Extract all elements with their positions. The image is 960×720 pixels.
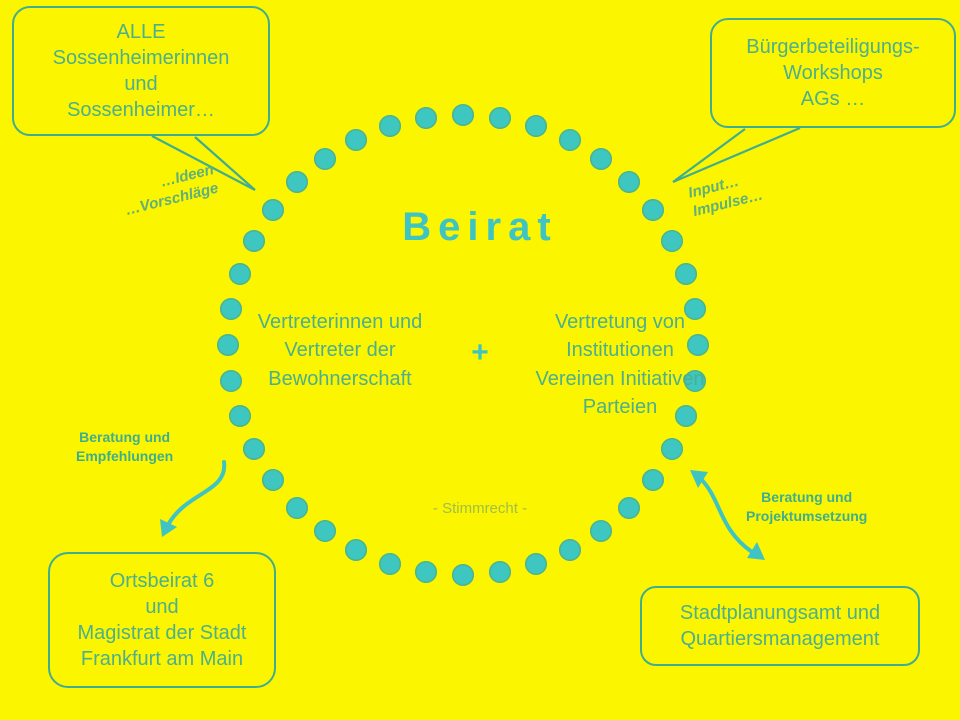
ring-dot [489,107,511,129]
box-line: Ortsbeirat 6 [110,568,214,594]
column-institutionen: Vertretung von Institutionen Vereinen In… [530,308,710,422]
ring-dot [262,469,284,491]
ring-dot [452,564,474,586]
column-line: Parteien [583,396,658,418]
column-line: Institutionen [566,339,674,361]
label-line: Projektumsetzung [746,507,867,526]
ring-dot [229,405,251,427]
center-composition: Vertreterinnen und Vertreter der Bewohne… [250,308,710,422]
label-line: Beratung und [76,428,173,447]
column-line: Vereinen [535,368,614,390]
ring-dot [489,561,511,583]
bubble-line: ALLE [117,19,166,45]
ring-dot [220,298,242,320]
label-line: Beratung und [746,488,867,507]
ring-dot [243,438,265,460]
ring-dot [642,469,664,491]
ring-dot [559,129,581,151]
box-line: Frankfurt am Main [81,646,243,672]
box-line: Magistrat der Stadt [78,620,247,646]
column-line: Vertreterinnen [258,311,384,333]
ring-dot [314,520,336,542]
ring-dot [286,171,308,193]
ring-dot [675,263,697,285]
bubble-line: und [124,71,157,97]
box-line: Stadtplanungsamt und [680,600,880,626]
bubble-line: Workshops [783,60,883,86]
column-bewohnerschaft: Vertreterinnen und Vertreter der Bewohne… [250,308,430,393]
ring-dot [345,129,367,151]
bubble-line: Bürgerbeteiligungs- [746,34,919,60]
box-ortsbeirat-magistrat: Ortsbeirat 6 und Magistrat der Stadt Fra… [48,552,276,688]
ring-dot [220,370,242,392]
bubble-line: Sossenheimerinnen [53,45,230,71]
label-beratung-empfehlungen: Beratung und Empfehlungen [76,428,173,466]
ring-dot [661,438,683,460]
label-line: Empfehlungen [76,447,173,466]
ring-dot [415,107,437,129]
box-stadtplanungsamt-quartiersmanagement: Stadtplanungsamt und Quartiersmanagement [640,586,920,666]
column-line: von [653,311,685,333]
ring-dot [618,171,640,193]
ring-dot [590,520,612,542]
plus-icon: + [460,338,500,368]
bubble-alle-sossenheimer: ALLE Sossenheimerinnen und Sossenheimer… [12,6,270,136]
ring-dot [217,334,239,356]
bubble-line: Sossenheimer… [67,97,215,123]
ring-dot [452,104,474,126]
ring-dot [590,148,612,170]
ring-dot [415,561,437,583]
column-line: Vertretung [555,311,647,333]
ring-dot [559,539,581,561]
ring-dot [314,148,336,170]
column-line: Initiativen [620,368,705,390]
box-line: und [145,594,178,620]
ring-dot [525,115,547,137]
box-line: Quartiersmanagement [681,626,880,652]
ring-dot [345,539,367,561]
ring-dot [379,553,401,575]
ring-dot [525,553,547,575]
bubble-line: AGs … [801,86,865,112]
column-line: Bewohnerschaft [268,368,411,390]
ring-dot [229,263,251,285]
column-line: der [367,339,396,361]
diagram-canvas: Beirat Vertreterinnen und Vertreter der … [0,0,960,720]
label-beratung-projektumsetzung: Beratung und Projektumsetzung [746,488,867,526]
bubble-buergerbeteiligungs-workshops: Bürgerbeteiligungs- Workshops AGs … [710,18,956,128]
ring-dot [379,115,401,137]
